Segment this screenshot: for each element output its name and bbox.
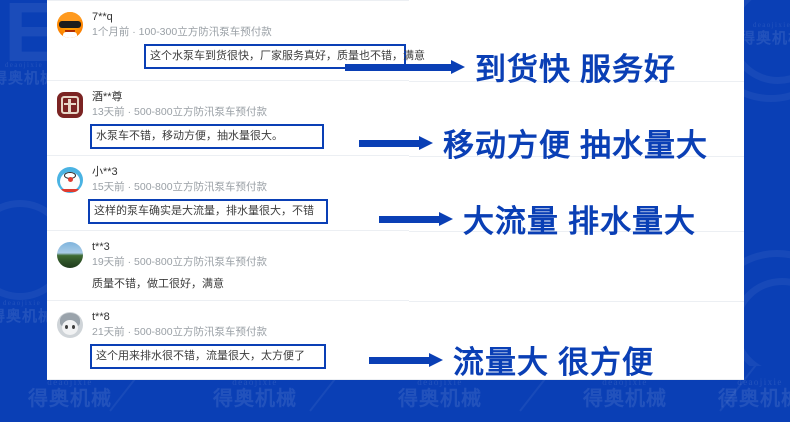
watermark-cn-text: 得奥机械	[380, 389, 500, 409]
review-text: 这个用来排水很不错，流量很大，太方便了	[90, 344, 326, 369]
watermark-cn-text: 得奥机械	[0, 71, 47, 86]
callout-headline: 到货快服务好	[475, 44, 676, 89]
watermark-left-1: deaojixie 得奥机械	[0, 62, 47, 86]
watermark-bottom-5: deaojixie 得奥机械	[700, 378, 790, 409]
seal-avatar	[57, 92, 83, 118]
watermark-cn-text: 得奥机械	[10, 389, 130, 409]
landscape-photo-avatar	[57, 242, 83, 268]
callout-group: 到货快服务好 移动方便抽水量大 大流量排水量大 流量大很方便	[347, 0, 744, 380]
callout-4: 流量大很方便	[369, 337, 654, 380]
watermark-right-1: deaojixie 得奥机械	[744, 22, 790, 46]
review-text: 水泵车不错，移动方便，抽水量很大。	[90, 124, 324, 149]
callout-2: 移动方便抽水量大	[359, 120, 708, 165]
callout-1: 到货快服务好	[345, 44, 676, 89]
emoji-sunglasses-avatar	[57, 12, 83, 38]
review-card: 7**q 1个月前 · 100-300立方防汛泵车预付款 这个水泵车到货很快，厂…	[47, 0, 744, 380]
left-blue-strip: E deaojixie 得奥机械 deaojixie 得奥机械	[0, 0, 47, 422]
review-text: 这样的泵车确实是大流量，排水量很大，不错	[88, 199, 328, 224]
callout-3: 大流量排水量大	[379, 196, 696, 241]
watermark-bottom-4: deaojixie 得奥机械	[565, 378, 685, 409]
watermark-en-text: deaojixie	[0, 300, 47, 307]
watermark-cn-text: 得奥机械	[0, 309, 47, 324]
arrow-right-icon	[359, 136, 433, 150]
watermark-en-text: deaojixie	[0, 62, 47, 69]
watermark-en-text: deaojixie	[744, 22, 790, 29]
arrow-right-icon	[345, 60, 465, 74]
watermark-bottom-1: deaojixie 得奥机械	[10, 378, 130, 409]
watermark-cn-text: 得奥机械	[744, 31, 790, 46]
gray-cartoon-avatar	[57, 312, 83, 338]
callout-headline: 大流量排水量大	[463, 196, 696, 241]
watermark-cn-text: 得奥机械	[195, 389, 315, 409]
callout-headline: 流量大很方便	[453, 337, 654, 380]
arrow-right-icon	[369, 353, 443, 367]
watermark-cn-text: 得奥机械	[700, 389, 790, 409]
promo-review-banner: E deaojixie 得奥机械 deaojixie 得奥机械 deaojixi…	[0, 0, 790, 422]
decorative-ring	[744, 278, 790, 378]
watermark-bottom-3: deaojixie 得奥机械	[380, 378, 500, 409]
right-blue-strip: deaojixie 得奥机械	[744, 0, 790, 422]
arrow-right-icon	[379, 212, 453, 226]
watermark-cn-text: 得奥机械	[565, 389, 685, 409]
decorative-ring	[0, 200, 47, 300]
watermark-bottom-2: deaojixie 得奥机械	[195, 378, 315, 409]
doraemon-avatar	[57, 167, 83, 193]
callout-headline: 移动方便抽水量大	[443, 120, 708, 165]
review-text: 质量不错，做工很好，满意	[92, 276, 224, 292]
watermark-left-2: deaojixie 得奥机械	[0, 300, 47, 324]
